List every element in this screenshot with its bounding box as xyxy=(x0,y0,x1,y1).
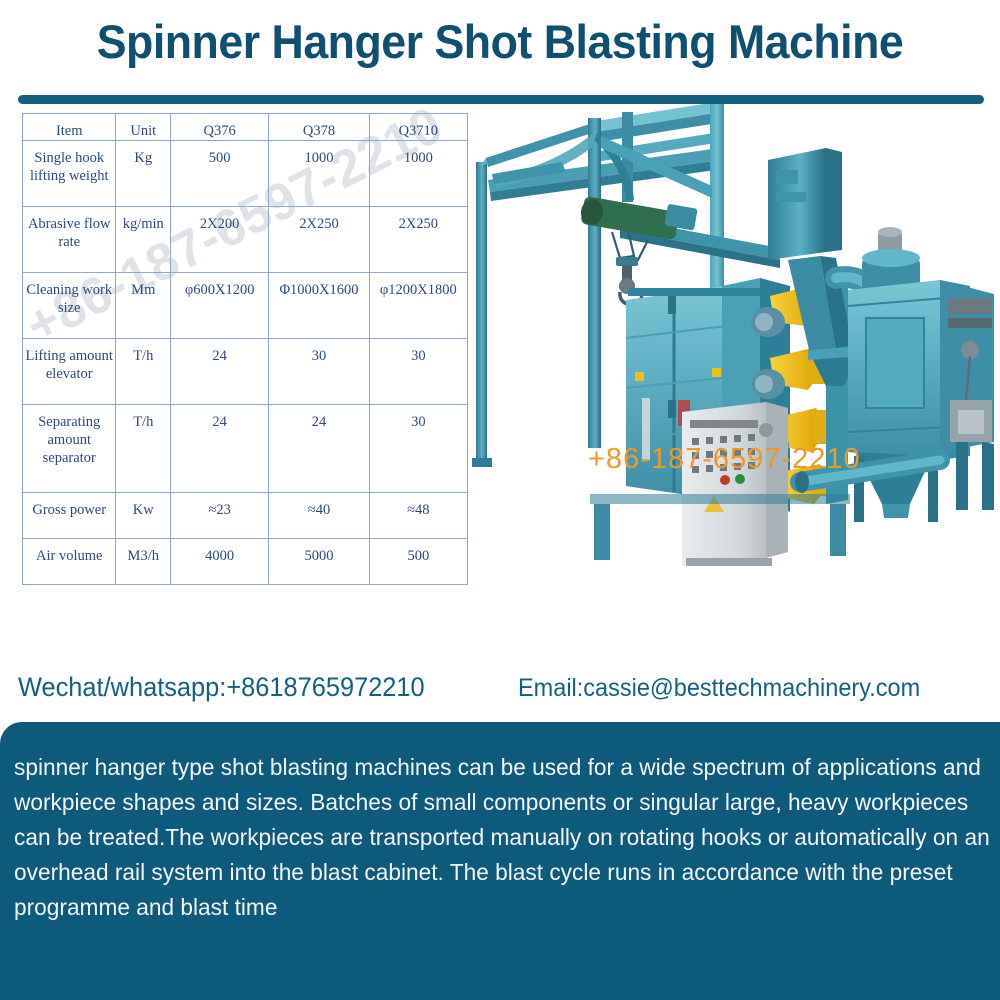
row-q376: φ600X1200 xyxy=(171,273,269,339)
table-row: Air volume M3/h 4000 5000 500 xyxy=(23,539,468,585)
col-header-unit: Unit xyxy=(116,114,171,141)
row-q3710: 2X250 xyxy=(369,207,467,273)
table-row: Separating amount separator T/h 24 24 30 xyxy=(23,405,468,493)
specification-table: Item Unit Q376 Q378 Q3710 Single hook li… xyxy=(22,113,468,585)
table-row: Lifting amount elevator T/h 24 30 30 xyxy=(23,339,468,405)
row-q378: 1000 xyxy=(269,141,369,207)
row-q3710: 30 xyxy=(369,405,467,493)
col-header-item: Item xyxy=(23,114,116,141)
row-q378: ≈40 xyxy=(269,493,369,539)
row-q378: 24 xyxy=(269,405,369,493)
row-item: Lifting amount elevator xyxy=(23,339,116,405)
col-header-q378: Q378 xyxy=(269,114,369,141)
row-item: Abrasive flow rate xyxy=(23,207,116,273)
table-row: Single hook lifting weight Kg 500 1000 1… xyxy=(23,141,468,207)
row-q378: 2X250 xyxy=(269,207,369,273)
row-q376: 2X200 xyxy=(171,207,269,273)
row-unit: kg/min xyxy=(116,207,171,273)
row-unit: Mm xyxy=(116,273,171,339)
row-q3710: ≈48 xyxy=(369,493,467,539)
row-unit: Kw xyxy=(116,493,171,539)
footer-description-band: spinner hanger type shot blasting machin… xyxy=(0,722,1000,1000)
row-unit: T/h xyxy=(116,405,171,493)
row-q378: 5000 xyxy=(269,539,369,585)
footer-description-text: spinner hanger type shot blasting machin… xyxy=(14,750,998,925)
email-contact[interactable]: Email:cassie@besttechmachinery.com xyxy=(518,674,920,703)
wechat-whatsapp-contact[interactable]: Wechat/whatsapp:+8618765972210 xyxy=(18,672,425,703)
spec-table-body: Item Unit Q376 Q378 Q3710 Single hook li… xyxy=(23,114,468,585)
control-cabinet xyxy=(682,402,788,566)
row-q376: ≈23 xyxy=(171,493,269,539)
title-divider xyxy=(18,95,984,104)
table-row: Abrasive flow rate kg/min 2X200 2X250 2X… xyxy=(23,207,468,273)
row-q3710: 1000 xyxy=(369,141,467,207)
machine-photo xyxy=(470,100,1000,580)
row-q3710: φ1200X1800 xyxy=(369,273,467,339)
row-q376: 500 xyxy=(171,141,269,207)
row-item: Gross power xyxy=(23,493,116,539)
row-item: Separating amount separator xyxy=(23,405,116,493)
table-row: Cleaning work size Mm φ600X1200 Φ1000X16… xyxy=(23,273,468,339)
contact-row: Wechat/whatsapp:+8618765972210 Email:cas… xyxy=(0,672,1000,714)
table-header-row: Item Unit Q376 Q378 Q3710 xyxy=(23,114,468,141)
row-q376: 24 xyxy=(171,405,269,493)
row-item: Single hook lifting weight xyxy=(23,141,116,207)
row-q3710: 500 xyxy=(369,539,467,585)
col-header-q376: Q376 xyxy=(171,114,269,141)
table-row: Gross power Kw ≈23 ≈40 ≈48 xyxy=(23,493,468,539)
row-q376: 24 xyxy=(171,339,269,405)
row-q3710: 30 xyxy=(369,339,467,405)
row-item: Cleaning work size xyxy=(23,273,116,339)
page-title: Spinner Hanger Shot Blasting Machine xyxy=(25,14,975,69)
row-unit: M3/h xyxy=(116,539,171,585)
row-unit: Kg xyxy=(116,141,171,207)
row-item: Air volume xyxy=(23,539,116,585)
row-q378: Φ1000X1600 xyxy=(269,273,369,339)
row-unit: T/h xyxy=(116,339,171,405)
row-q376: 4000 xyxy=(171,539,269,585)
row-q378: 30 xyxy=(269,339,369,405)
col-header-q3710: Q3710 xyxy=(369,114,467,141)
